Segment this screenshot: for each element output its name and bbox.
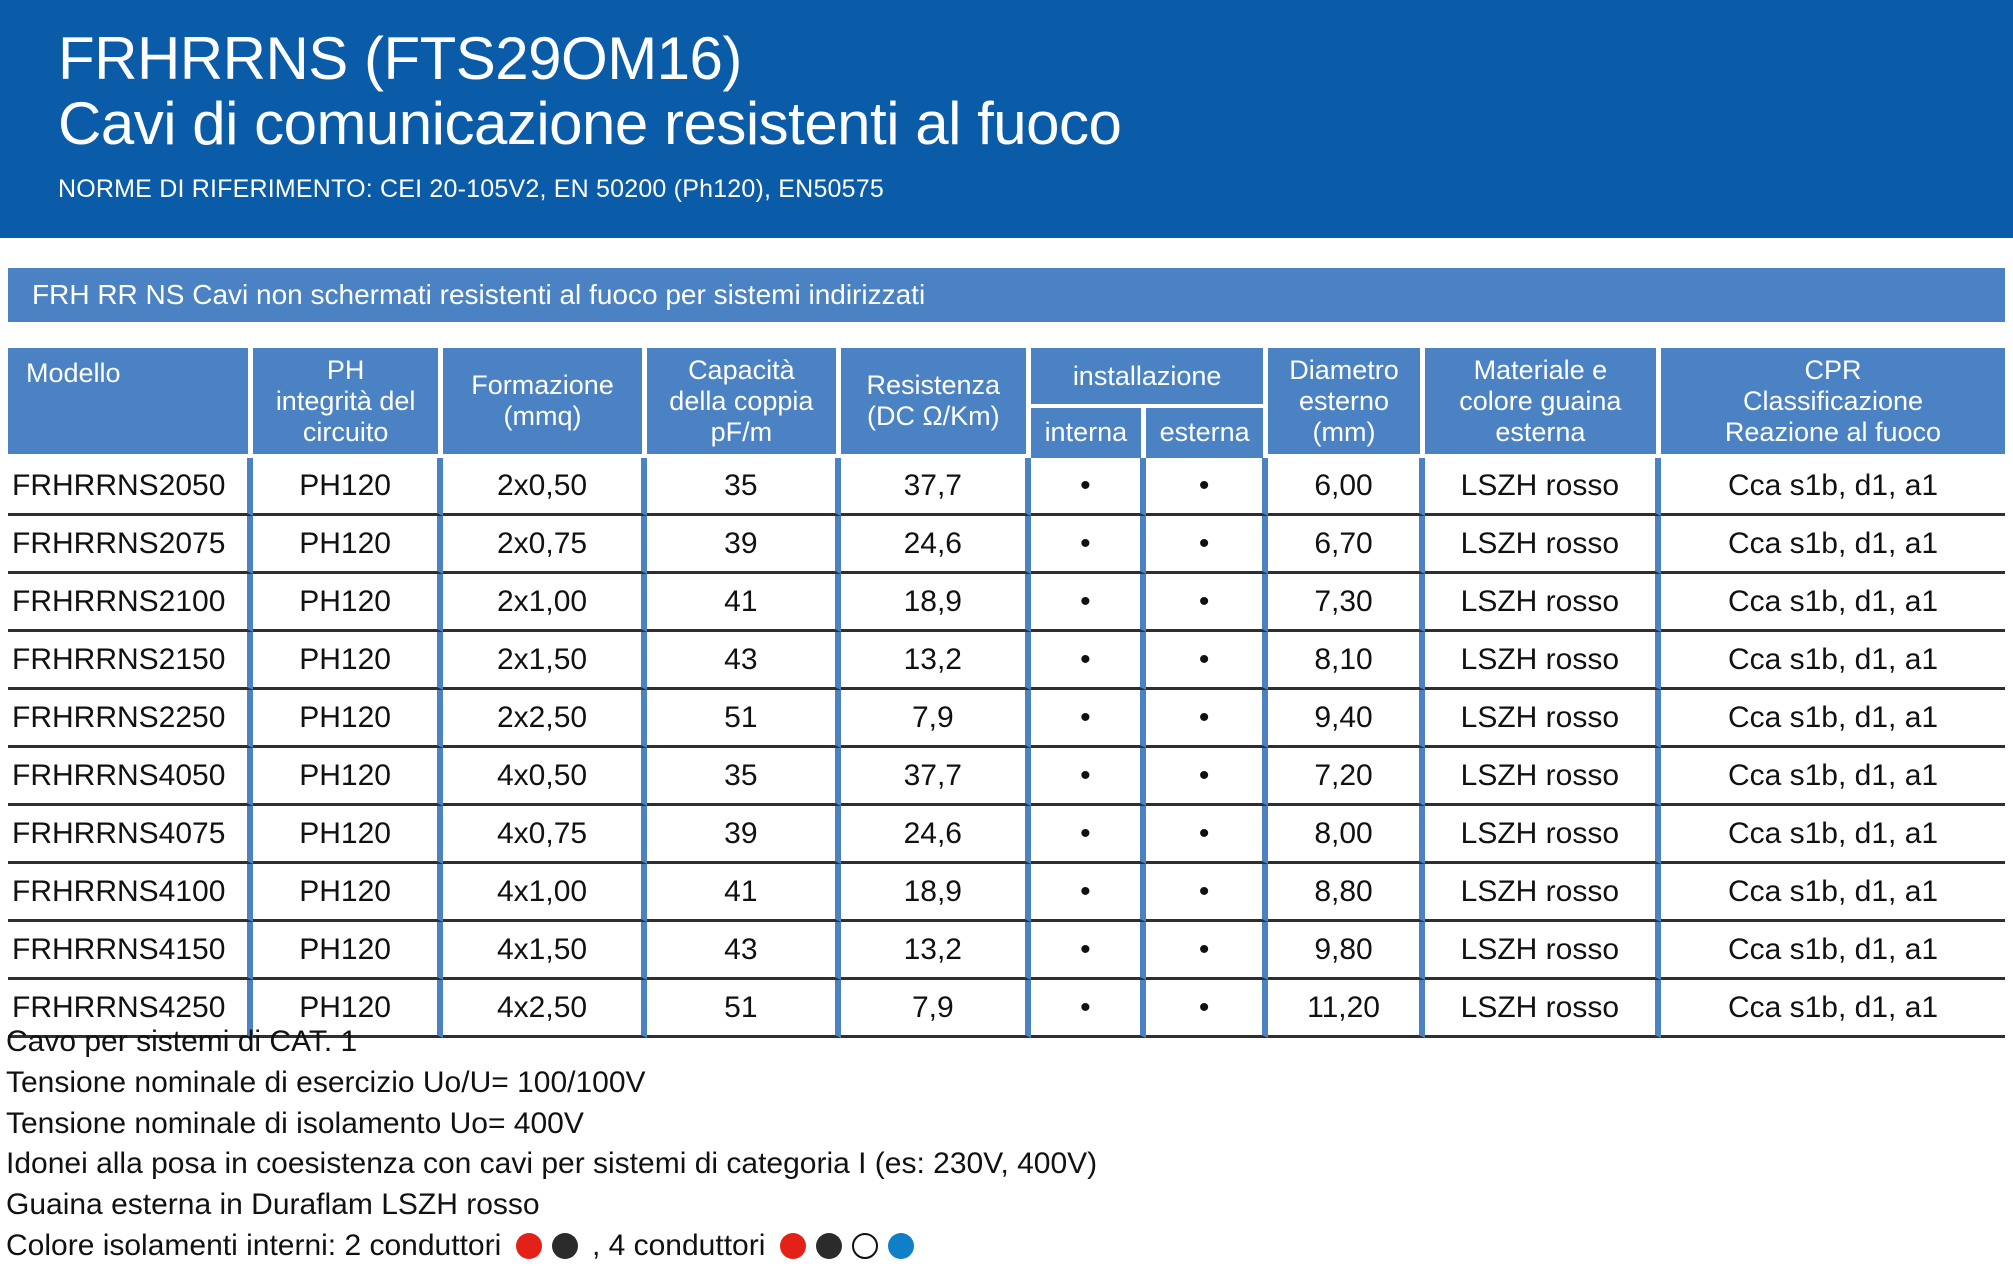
- spec-table-body: FRHRRNS2050PH1202x0,503537,7••6,00LSZH r…: [8, 458, 2005, 1038]
- conductor-colors-label-4: , 4 conduttori: [592, 1229, 765, 1262]
- conductor-dot-white: [852, 1233, 878, 1259]
- cell-resistenza: 13,2: [841, 922, 1031, 980]
- cell-formazione: 4x1,00: [443, 864, 647, 922]
- table-row: FRHRRNS2250PH1202x2,50517,9••9,40LSZH ro…: [8, 690, 2005, 748]
- note-line-4: Idonei alla posa in coesistenza con cavi…: [6, 1144, 1996, 1185]
- conductor-dot-blue: [888, 1233, 914, 1259]
- table-row: FRHRRNS4150PH1204x1,504313,2••9,80LSZH r…: [8, 922, 2005, 980]
- table-row: FRHRRNS4050PH1204x0,503537,7••7,20LSZH r…: [8, 748, 2005, 806]
- cell-ph: PH120: [253, 632, 443, 690]
- col-header-cpr: CPR Classificazione Reazione al fuoco: [1661, 348, 2005, 458]
- cell-esterna: •: [1146, 574, 1269, 632]
- cell-modello: FRHRRNS4050: [8, 748, 253, 806]
- cell-capacita: 35: [647, 748, 841, 806]
- cell-resistenza: 7,9: [841, 690, 1031, 748]
- cell-materiale: LSZH rosso: [1425, 864, 1661, 922]
- cell-resistenza: 18,9: [841, 864, 1031, 922]
- cell-capacita: 39: [647, 516, 841, 574]
- col-header-diametro-line2: esterno: [1272, 386, 1415, 417]
- col-header-capacita-line3: pF/m: [651, 417, 832, 448]
- page-banner: FRHRRNS (FTS29OM16) Cavi di comunicazion…: [0, 0, 2013, 238]
- cell-capacita: 41: [647, 574, 841, 632]
- note-line-3: Tensione nominale di isolamento Uo= 400V: [6, 1104, 1996, 1145]
- cell-capacita: 39: [647, 806, 841, 864]
- cell-formazione: 2x1,00: [443, 574, 647, 632]
- note-line-5: Guaina esterna in Duraflam LSZH rosso: [6, 1185, 1996, 1226]
- cell-capacita: 41: [647, 864, 841, 922]
- cell-diametro: 9,40: [1268, 690, 1424, 748]
- cell-modello: FRHRRNS4150: [8, 922, 253, 980]
- cell-modello: FRHRRNS2100: [8, 574, 253, 632]
- cell-ph: PH120: [253, 516, 443, 574]
- col-header-cpr-line2: Classificazione: [1665, 386, 2001, 417]
- cell-cpr: Cca s1b, d1, a1: [1661, 632, 2005, 690]
- table-row: FRHRRNS2075PH1202x0,753924,6••6,70LSZH r…: [8, 516, 2005, 574]
- cell-resistenza: 37,7: [841, 748, 1031, 806]
- col-header-ph-line1: PH: [257, 355, 434, 386]
- col-header-materiale-line2: colore guaina: [1429, 386, 1652, 417]
- table-row: FRHRRNS4075PH1204x0,753924,6••8,00LSZH r…: [8, 806, 2005, 864]
- cell-interna: •: [1031, 922, 1146, 980]
- col-header-interna: interna: [1031, 408, 1146, 458]
- cell-formazione: 4x0,75: [443, 806, 647, 864]
- col-header-installazione-label: installazione: [1073, 361, 1222, 391]
- col-header-formazione-line2: (mmq): [447, 401, 638, 432]
- cell-interna: •: [1031, 574, 1146, 632]
- cell-interna: •: [1031, 632, 1146, 690]
- cell-interna: •: [1031, 806, 1146, 864]
- datasheet-page: FRHRRNS (FTS29OM16) Cavi di comunicazion…: [0, 0, 2013, 1284]
- cell-diametro: 7,30: [1268, 574, 1424, 632]
- cell-interna: •: [1031, 516, 1146, 574]
- note-line-6: Colore isolamenti interni: 2 conduttori …: [6, 1226, 1996, 1267]
- cell-cpr: Cca s1b, d1, a1: [1661, 806, 2005, 864]
- spec-table-head: Modello PH integrità del circuito Formaz…: [8, 348, 2005, 458]
- col-header-modello-label: Modello: [26, 358, 121, 388]
- conductor-dot-black: [552, 1233, 578, 1259]
- cell-resistenza: 13,2: [841, 632, 1031, 690]
- cell-materiale: LSZH rosso: [1425, 458, 1661, 516]
- cell-interna: •: [1031, 458, 1146, 516]
- section-header: FRH RR NS Cavi non schermati resistenti …: [8, 268, 2005, 322]
- cell-formazione: 4x0,50: [443, 748, 647, 806]
- cell-resistenza: 24,6: [841, 516, 1031, 574]
- conductor-colors-label-2: Colore isolamenti interni: 2 conduttori: [6, 1229, 501, 1262]
- section-header-label: FRH RR NS Cavi non schermati resistenti …: [32, 279, 925, 311]
- cell-interna: •: [1031, 748, 1146, 806]
- col-header-resistenza: Resistenza (DC Ω/Km): [841, 348, 1031, 458]
- cell-esterna: •: [1146, 458, 1269, 516]
- col-header-capacita: Capacità della coppia pF/m: [647, 348, 841, 458]
- conductor-color-swatches-4: [780, 1233, 914, 1259]
- cell-formazione: 2x1,50: [443, 632, 647, 690]
- cell-diametro: 9,80: [1268, 922, 1424, 980]
- cell-formazione: 2x2,50: [443, 690, 647, 748]
- note-line-1: Cavo per sistemi di CAT. 1: [6, 1022, 1996, 1063]
- col-header-diametro-line3: (mm): [1272, 417, 1415, 448]
- page-title: FRHRRNS (FTS29OM16): [58, 28, 2013, 90]
- col-header-installazione: installazione: [1031, 348, 1269, 408]
- conductor-dot-red: [516, 1233, 542, 1259]
- table-row: FRHRRNS2150PH1202x1,504313,2••8,10LSZH r…: [8, 632, 2005, 690]
- col-header-capacita-line2: della coppia: [651, 386, 832, 417]
- cell-esterna: •: [1146, 516, 1269, 574]
- cell-esterna: •: [1146, 748, 1269, 806]
- cell-resistenza: 18,9: [841, 574, 1031, 632]
- conductor-color-swatches-2: [516, 1233, 578, 1259]
- cell-ph: PH120: [253, 574, 443, 632]
- cell-capacita: 43: [647, 922, 841, 980]
- table-row: FRHRRNS4100PH1204x1,004118,9••8,80LSZH r…: [8, 864, 2005, 922]
- cell-materiale: LSZH rosso: [1425, 690, 1661, 748]
- cell-materiale: LSZH rosso: [1425, 516, 1661, 574]
- cell-diametro: 6,00: [1268, 458, 1424, 516]
- col-header-modello: Modello: [8, 348, 253, 458]
- cell-materiale: LSZH rosso: [1425, 922, 1661, 980]
- cell-esterna: •: [1146, 806, 1269, 864]
- col-header-ph: PH integrità del circuito: [253, 348, 443, 458]
- col-header-cpr-line1: CPR: [1665, 355, 2001, 386]
- cell-modello: FRHRRNS4075: [8, 806, 253, 864]
- conductor-dot-black: [816, 1233, 842, 1259]
- conductor-dot-red: [780, 1233, 806, 1259]
- cell-ph: PH120: [253, 806, 443, 864]
- col-header-resistenza-line1: Resistenza: [845, 370, 1022, 401]
- col-header-ph-line3: circuito: [257, 417, 434, 448]
- cell-ph: PH120: [253, 864, 443, 922]
- cell-materiale: LSZH rosso: [1425, 574, 1661, 632]
- cell-modello: FRHRRNS4100: [8, 864, 253, 922]
- cell-cpr: Cca s1b, d1, a1: [1661, 458, 2005, 516]
- cell-resistenza: 24,6: [841, 806, 1031, 864]
- cell-capacita: 43: [647, 632, 841, 690]
- cell-cpr: Cca s1b, d1, a1: [1661, 574, 2005, 632]
- cell-diametro: 8,00: [1268, 806, 1424, 864]
- col-header-diametro: Diametro esterno (mm): [1268, 348, 1424, 458]
- table-row: FRHRRNS2050PH1202x0,503537,7••6,00LSZH r…: [8, 458, 2005, 516]
- cell-diametro: 6,70: [1268, 516, 1424, 574]
- cell-ph: PH120: [253, 690, 443, 748]
- cell-diametro: 8,10: [1268, 632, 1424, 690]
- cell-materiale: LSZH rosso: [1425, 748, 1661, 806]
- col-header-capacita-line1: Capacità: [651, 355, 832, 386]
- cell-resistenza: 37,7: [841, 458, 1031, 516]
- col-header-materiale-line1: Materiale e: [1429, 355, 1652, 386]
- cell-esterna: •: [1146, 690, 1269, 748]
- cell-esterna: •: [1146, 864, 1269, 922]
- col-header-resistenza-line2: (DC Ω/Km): [845, 401, 1022, 432]
- cell-modello: FRHRRNS2250: [8, 690, 253, 748]
- cell-ph: PH120: [253, 922, 443, 980]
- spec-table-wrapper: Modello PH integrità del circuito Formaz…: [8, 348, 2005, 1038]
- cell-ph: PH120: [253, 748, 443, 806]
- reference-standards: NORME DI RIFERIMENTO: CEI 20-105V2, EN 5…: [58, 175, 2013, 204]
- cell-capacita: 35: [647, 458, 841, 516]
- cell-cpr: Cca s1b, d1, a1: [1661, 516, 2005, 574]
- cell-interna: •: [1031, 690, 1146, 748]
- cell-modello: FRHRRNS2075: [8, 516, 253, 574]
- cell-formazione: 2x0,50: [443, 458, 647, 516]
- col-header-materiale-line3: esterna: [1429, 417, 1652, 448]
- cell-materiale: LSZH rosso: [1425, 632, 1661, 690]
- cell-diametro: 8,80: [1268, 864, 1424, 922]
- cell-cpr: Cca s1b, d1, a1: [1661, 748, 2005, 806]
- note-line-2: Tensione nominale di esercizio Uo/U= 100…: [6, 1063, 1996, 1104]
- col-header-esterna: esterna: [1146, 408, 1269, 458]
- cell-modello: FRHRRNS2050: [8, 458, 253, 516]
- col-header-formazione-line1: Formazione: [447, 370, 638, 401]
- cell-cpr: Cca s1b, d1, a1: [1661, 690, 2005, 748]
- cell-capacita: 51: [647, 690, 841, 748]
- cell-formazione: 4x1,50: [443, 922, 647, 980]
- col-header-cpr-line3: Reazione al fuoco: [1665, 417, 2001, 448]
- col-header-ph-line2: integrità del: [257, 386, 434, 417]
- col-header-diametro-line1: Diametro: [1272, 355, 1415, 386]
- col-header-formazione: Formazione (mmq): [443, 348, 647, 458]
- cell-cpr: Cca s1b, d1, a1: [1661, 922, 2005, 980]
- footer-notes: Cavo per sistemi di CAT. 1 Tensione nomi…: [6, 1022, 1996, 1267]
- cell-esterna: •: [1146, 922, 1269, 980]
- header-row-main: Modello PH integrità del circuito Formaz…: [8, 348, 2005, 408]
- spec-table: Modello PH integrità del circuito Formaz…: [8, 348, 2005, 1038]
- page-subtitle: Cavi di comunicazione resistenti al fuoc…: [58, 92, 2013, 157]
- cell-diametro: 7,20: [1268, 748, 1424, 806]
- cell-materiale: LSZH rosso: [1425, 806, 1661, 864]
- col-header-materiale: Materiale e colore guaina esterna: [1425, 348, 1661, 458]
- table-row: FRHRRNS2100PH1202x1,004118,9••7,30LSZH r…: [8, 574, 2005, 632]
- cell-interna: •: [1031, 864, 1146, 922]
- cell-cpr: Cca s1b, d1, a1: [1661, 864, 2005, 922]
- cell-ph: PH120: [253, 458, 443, 516]
- cell-formazione: 2x0,75: [443, 516, 647, 574]
- cell-modello: FRHRRNS2150: [8, 632, 253, 690]
- cell-esterna: •: [1146, 632, 1269, 690]
